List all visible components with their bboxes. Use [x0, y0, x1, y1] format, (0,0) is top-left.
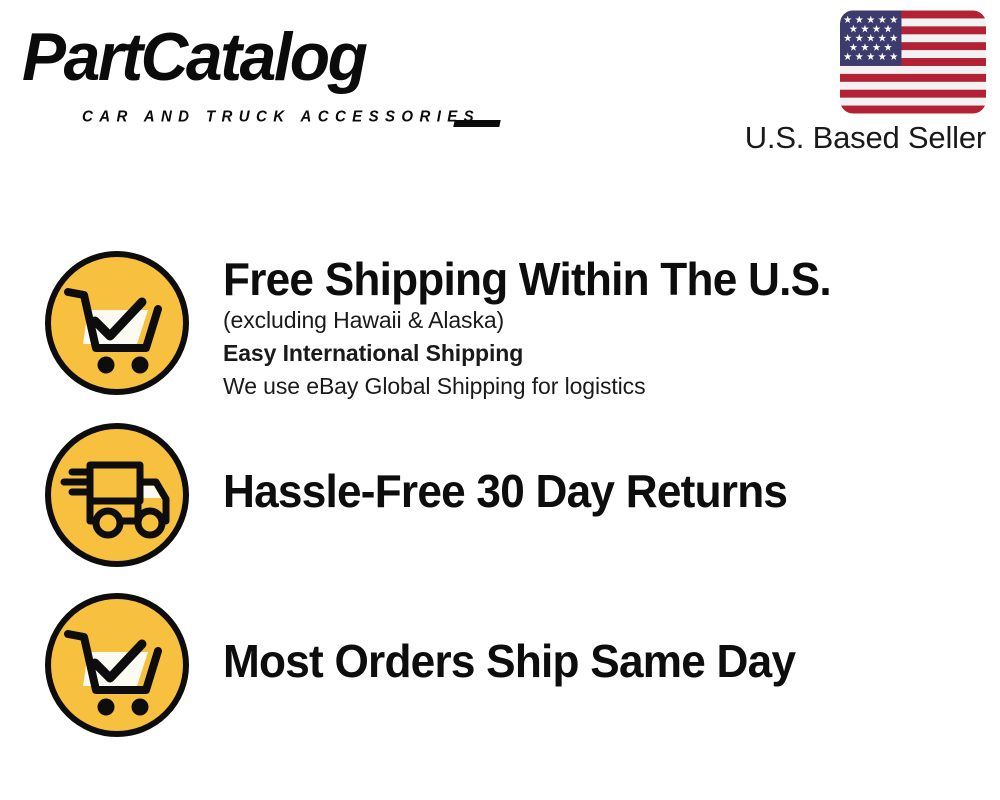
us-based-seller-label: U.S. Based Seller — [721, 120, 986, 156]
feature-subline: Easy International Shipping — [223, 337, 983, 370]
delivery-truck-icon — [42, 420, 192, 570]
partcatalog-logo[interactable]: PartCatalog CAR AND TRUCK ACCESSORIES — [22, 20, 492, 120]
brand-tagline-rule — [453, 120, 500, 127]
us-flag-icon — [840, 10, 986, 114]
feature-heading: Free Shipping Within The U.S. — [223, 254, 953, 304]
brand-tagline: CAR AND TRUCK ACCESSORIES — [82, 108, 480, 126]
feature-subline: We use eBay Global Shipping for logistic… — [223, 370, 983, 403]
shopping-cart-check-icon — [42, 248, 192, 398]
brand-wordmark: PartCatalog — [22, 20, 478, 94]
banner-header: PartCatalog CAR AND TRUCK ACCESSORIES — [0, 0, 1000, 175]
feature-text-block: Free Shipping Within The U.S. (excluding… — [223, 254, 983, 403]
shopping-cart-check-icon — [42, 590, 192, 740]
feature-subline: (excluding Hawaii & Alaska) — [223, 304, 983, 337]
feature-heading: Hassle-Free 30 Day Returns — [223, 466, 953, 516]
feature-text-block: Most Orders Ship Same Day — [223, 636, 983, 686]
us-based-seller-badge: U.S. Based Seller — [721, 10, 986, 156]
feature-text-block: Hassle-Free 30 Day Returns — [223, 466, 983, 516]
feature-heading: Most Orders Ship Same Day — [223, 636, 953, 686]
